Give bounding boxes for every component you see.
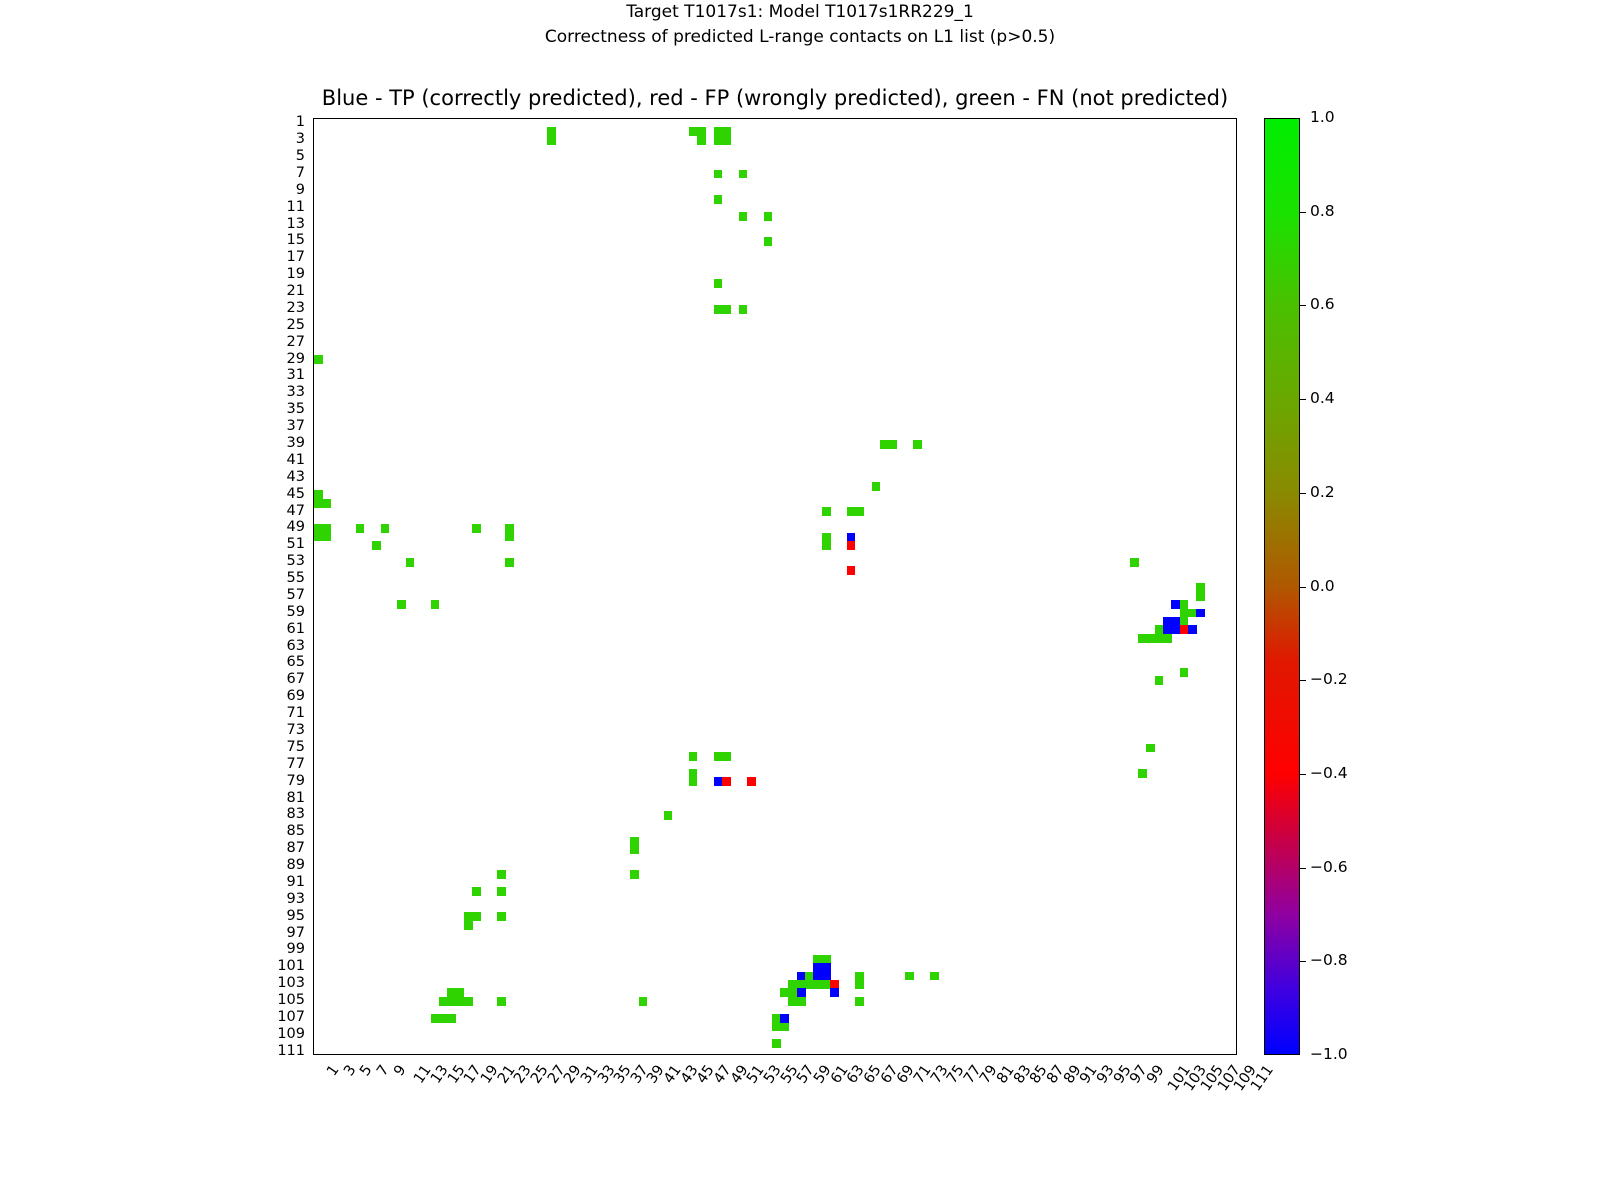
contact-cell bbox=[714, 279, 723, 288]
x-axis-tick bbox=[984, 1054, 985, 1055]
y-axis-tick-label: 41 bbox=[287, 453, 305, 468]
y-axis-tick-label: 111 bbox=[277, 1044, 305, 1059]
x-axis-tick bbox=[476, 1054, 477, 1055]
x-axis-tick bbox=[1117, 1054, 1118, 1055]
x-axis-tick bbox=[901, 1054, 902, 1055]
x-axis-tick bbox=[1184, 1054, 1185, 1055]
contact-cell bbox=[813, 963, 830, 980]
y-axis-tick bbox=[313, 427, 314, 428]
y-axis-tick-label: 1 bbox=[296, 115, 305, 130]
x-axis-tick bbox=[1226, 1054, 1227, 1055]
y-axis-tick-label: 101 bbox=[277, 959, 305, 974]
y-axis-tick-label: 89 bbox=[287, 858, 305, 873]
contact-cell bbox=[764, 212, 773, 221]
x-axis-tick bbox=[1042, 1054, 1043, 1055]
y-axis-tick bbox=[313, 478, 314, 479]
contact-cell-layer bbox=[314, 119, 1236, 1054]
y-axis-tick bbox=[313, 621, 314, 622]
y-axis-tick bbox=[313, 891, 314, 892]
x-axis-tick bbox=[493, 1054, 494, 1055]
x-axis-tick bbox=[768, 1054, 769, 1055]
contact-cell bbox=[822, 533, 831, 550]
contact-cell bbox=[930, 972, 939, 981]
x-axis-tick bbox=[1067, 1054, 1068, 1055]
contact-cell bbox=[1130, 558, 1139, 567]
y-axis-tick bbox=[313, 832, 314, 833]
colorbar-tick-label: −0.4 bbox=[1310, 766, 1348, 782]
y-axis-tick bbox=[313, 149, 314, 150]
y-axis-tick bbox=[313, 199, 314, 200]
y-axis-tick bbox=[313, 275, 314, 276]
y-axis-tick bbox=[313, 1052, 314, 1053]
contact-cell bbox=[822, 507, 831, 516]
y-axis-tick bbox=[313, 157, 314, 158]
y-axis-tick bbox=[313, 697, 314, 698]
contact-cell bbox=[439, 997, 473, 1006]
y-axis-tick bbox=[313, 436, 314, 437]
colorbar-tick-label: 0.6 bbox=[1310, 297, 1335, 313]
y-axis-tick bbox=[313, 604, 314, 605]
contact-cell bbox=[872, 482, 881, 491]
y-axis-tick-label: 37 bbox=[287, 419, 305, 434]
x-axis-tick bbox=[651, 1054, 652, 1055]
y-axis-tick-label: 5 bbox=[296, 149, 305, 164]
y-axis-tick bbox=[313, 790, 314, 791]
x-axis-tick bbox=[1176, 1054, 1177, 1055]
x-axis-tick bbox=[368, 1054, 369, 1055]
x-axis-tick bbox=[1217, 1054, 1218, 1055]
x-axis-tick bbox=[868, 1054, 869, 1055]
x-axis-tick bbox=[951, 1054, 952, 1055]
contact-cell bbox=[1180, 668, 1189, 677]
y-axis-tick bbox=[313, 613, 314, 614]
y-axis-tick bbox=[313, 132, 314, 133]
contact-cell bbox=[431, 600, 440, 609]
contact-cell bbox=[714, 305, 731, 314]
contact-cell bbox=[497, 887, 506, 896]
contact-cell bbox=[406, 558, 415, 567]
contact-cell bbox=[381, 524, 390, 533]
y-axis-tick bbox=[313, 537, 314, 538]
contact-cell bbox=[472, 887, 481, 896]
colorbar-tick bbox=[1300, 868, 1306, 869]
y-axis-tick bbox=[313, 140, 314, 141]
y-axis-tick-label: 43 bbox=[287, 470, 305, 485]
y-axis-tick bbox=[313, 267, 314, 268]
y-axis-tick bbox=[313, 908, 314, 909]
y-axis-tick bbox=[313, 875, 314, 876]
contact-cell bbox=[830, 988, 839, 997]
y-axis-tick bbox=[313, 976, 314, 977]
y-axis-tick bbox=[313, 993, 314, 994]
x-axis-tick bbox=[743, 1054, 744, 1055]
x-axis-tick bbox=[1034, 1054, 1035, 1055]
x-axis-tick bbox=[826, 1054, 827, 1055]
y-axis-tick bbox=[313, 883, 314, 884]
y-axis-tick bbox=[313, 385, 314, 386]
y-axis-tick bbox=[313, 858, 314, 859]
y-axis-tick bbox=[313, 967, 314, 968]
contact-cell bbox=[797, 988, 806, 997]
y-axis-tick-label: 39 bbox=[287, 436, 305, 451]
contact-cell bbox=[847, 507, 864, 516]
y-axis-tick-label: 51 bbox=[287, 537, 305, 552]
y-axis-tick-label: 35 bbox=[287, 402, 305, 417]
y-axis-tick bbox=[313, 630, 314, 631]
x-axis-tick bbox=[360, 1054, 361, 1055]
x-axis-tick bbox=[701, 1054, 702, 1055]
contact-cell bbox=[497, 912, 506, 921]
figure-suptitle: Target T1017s1: Model T1017s1RR229_1 Cor… bbox=[0, 0, 1600, 50]
suptitle-line-2: Correctness of predicted L-range contact… bbox=[0, 25, 1600, 50]
y-axis-tick-label: 49 bbox=[287, 520, 305, 535]
y-axis-tick-label: 97 bbox=[287, 926, 305, 941]
contact-cell bbox=[772, 1039, 781, 1048]
x-axis-tick bbox=[1151, 1054, 1152, 1055]
contact-cell bbox=[397, 600, 406, 609]
colorbar-tick-label: 1.0 bbox=[1310, 110, 1335, 126]
contact-cell bbox=[880, 440, 897, 449]
y-axis-tick bbox=[313, 1035, 314, 1036]
y-axis-tick bbox=[313, 165, 314, 166]
y-axis-tick-label: 57 bbox=[287, 588, 305, 603]
colorbar-tick-label: 0.4 bbox=[1310, 391, 1335, 407]
contact-cell bbox=[739, 305, 748, 314]
colorbar-tick-label: 0.0 bbox=[1310, 579, 1335, 595]
y-axis-tick-label: 47 bbox=[287, 504, 305, 519]
y-axis-tick bbox=[313, 900, 314, 901]
x-axis-tick bbox=[834, 1054, 835, 1055]
contact-cell bbox=[714, 170, 723, 179]
x-axis-tick bbox=[576, 1054, 577, 1055]
contact-cell bbox=[464, 921, 473, 930]
contact-cell bbox=[431, 1014, 456, 1023]
y-axis-tick-label: 55 bbox=[287, 571, 305, 586]
y-axis-tick bbox=[313, 942, 314, 943]
x-axis-tick bbox=[535, 1054, 536, 1055]
x-axis-tick bbox=[918, 1054, 919, 1055]
y-axis-tick-label: 27 bbox=[287, 335, 305, 350]
x-axis-tick bbox=[1159, 1054, 1160, 1055]
colorbar-tick-label: 0.2 bbox=[1310, 485, 1335, 501]
x-axis-tick bbox=[1167, 1054, 1168, 1055]
contact-cell bbox=[547, 127, 556, 144]
contact-cell bbox=[505, 524, 514, 541]
y-axis-tick bbox=[313, 444, 314, 445]
x-axis-tick bbox=[426, 1054, 427, 1055]
contact-cell bbox=[639, 997, 648, 1006]
y-axis-tick bbox=[313, 284, 314, 285]
contact-cell bbox=[664, 811, 673, 820]
y-axis-tick bbox=[313, 461, 314, 462]
x-axis-tick bbox=[734, 1054, 735, 1055]
contact-cell bbox=[722, 777, 731, 786]
y-axis-tick bbox=[313, 950, 314, 951]
figure-canvas: Target T1017s1: Model T1017s1RR229_1 Cor… bbox=[0, 0, 1600, 1200]
y-axis-tick bbox=[313, 292, 314, 293]
y-axis-tick bbox=[313, 925, 314, 926]
contact-cell bbox=[1155, 676, 1164, 685]
y-axis-tick-label: 59 bbox=[287, 605, 305, 620]
x-axis-tick bbox=[643, 1054, 644, 1055]
y-axis-tick-label: 107 bbox=[277, 1010, 305, 1025]
suptitle-line-1: Target T1017s1: Model T1017s1RR229_1 bbox=[0, 0, 1600, 25]
y-axis-tick bbox=[313, 917, 314, 918]
contact-cell bbox=[913, 440, 922, 449]
axes-title: Blue - TP (correctly predicted), red - F… bbox=[313, 86, 1237, 110]
x-axis-tick bbox=[1017, 1054, 1018, 1055]
x-axis-tick bbox=[959, 1054, 960, 1055]
x-axis-tick bbox=[1059, 1054, 1060, 1055]
y-axis-tick bbox=[313, 317, 314, 318]
y-axis-tick-label: 3 bbox=[296, 132, 305, 147]
contact-cell bbox=[1163, 617, 1180, 634]
y-axis-tick bbox=[313, 520, 314, 521]
y-axis-tick bbox=[313, 799, 314, 800]
x-axis-tick bbox=[1026, 1054, 1027, 1055]
contact-cell bbox=[1188, 625, 1197, 634]
x-axis-tick bbox=[585, 1054, 586, 1055]
x-axis-tick bbox=[1101, 1054, 1102, 1055]
y-axis-tick bbox=[313, 1018, 314, 1019]
y-axis-tick bbox=[313, 410, 314, 411]
x-axis-tick bbox=[967, 1054, 968, 1055]
contact-cell bbox=[739, 170, 748, 179]
x-axis-tick bbox=[1126, 1054, 1127, 1055]
contact-cell bbox=[847, 566, 856, 575]
x-axis-tick bbox=[610, 1054, 611, 1055]
y-axis-tick bbox=[313, 782, 314, 783]
colorbar-tick bbox=[1300, 774, 1306, 775]
x-axis-tick bbox=[992, 1054, 993, 1055]
x-axis-tick bbox=[343, 1054, 344, 1055]
y-axis-tick-label: 75 bbox=[287, 740, 305, 755]
y-axis-tick bbox=[313, 849, 314, 850]
y-axis-tick bbox=[313, 1026, 314, 1027]
y-axis-tick bbox=[313, 300, 314, 301]
x-axis-tick bbox=[876, 1054, 877, 1055]
y-axis-tick bbox=[313, 452, 314, 453]
x-axis-tick bbox=[443, 1054, 444, 1055]
x-axis-tick bbox=[318, 1054, 319, 1055]
x-axis-tick bbox=[1209, 1054, 1210, 1055]
contact-cell bbox=[747, 777, 756, 786]
x-axis-tick bbox=[909, 1054, 910, 1055]
y-axis-tick bbox=[313, 393, 314, 394]
y-axis-tick bbox=[313, 512, 314, 513]
x-axis-tick bbox=[693, 1054, 694, 1055]
x-axis-tick bbox=[626, 1054, 627, 1055]
x-axis-tick bbox=[684, 1054, 685, 1055]
y-axis-tick bbox=[313, 368, 314, 369]
x-axis-tick bbox=[709, 1054, 710, 1055]
x-axis-tick bbox=[510, 1054, 511, 1055]
x-axis-tick bbox=[843, 1054, 844, 1055]
y-axis-tick-label: 93 bbox=[287, 892, 305, 907]
x-axis-tick-label: 9 bbox=[392, 1063, 409, 1079]
y-axis-tick bbox=[313, 562, 314, 563]
x-axis-tick bbox=[859, 1054, 860, 1055]
contact-cell bbox=[497, 997, 506, 1006]
x-axis-tick bbox=[468, 1054, 469, 1055]
y-axis-tick bbox=[313, 554, 314, 555]
y-axis-tick-label: 31 bbox=[287, 368, 305, 383]
y-axis-tick-label: 61 bbox=[287, 622, 305, 637]
x-axis-tick bbox=[809, 1054, 810, 1055]
y-axis-tick-label: 103 bbox=[277, 976, 305, 991]
y-axis-tick bbox=[313, 655, 314, 656]
y-axis-tick bbox=[313, 402, 314, 403]
y-axis-tick bbox=[313, 233, 314, 234]
y-axis-tick bbox=[313, 731, 314, 732]
y-axis-tick bbox=[313, 545, 314, 546]
contact-cell bbox=[1138, 634, 1172, 643]
x-axis-tick bbox=[326, 1054, 327, 1055]
x-axis-tick bbox=[593, 1054, 594, 1055]
x-axis-tick bbox=[1142, 1054, 1143, 1055]
contact-cell bbox=[497, 870, 506, 879]
y-axis-tick-label: 15 bbox=[287, 233, 305, 248]
contact-cell bbox=[689, 769, 698, 786]
y-axis-tick bbox=[313, 680, 314, 681]
x-axis-tick bbox=[668, 1054, 669, 1055]
y-axis-tick-label: 33 bbox=[287, 385, 305, 400]
y-axis-tick bbox=[313, 866, 314, 867]
x-axis-tick bbox=[618, 1054, 619, 1055]
y-axis-tick bbox=[313, 174, 314, 175]
contact-map-plot[interactable] bbox=[313, 118, 1237, 1055]
y-axis-tick bbox=[313, 360, 314, 361]
y-axis-tick-label: 77 bbox=[287, 757, 305, 772]
y-axis-tick-label: 73 bbox=[287, 723, 305, 738]
x-axis-tick bbox=[759, 1054, 760, 1055]
x-axis-tick bbox=[793, 1054, 794, 1055]
contact-cell bbox=[780, 1014, 789, 1023]
y-axis-tick bbox=[313, 824, 314, 825]
y-axis-tick-label: 65 bbox=[287, 655, 305, 670]
x-axis-tick bbox=[1009, 1054, 1010, 1055]
y-axis-tick-label: 19 bbox=[287, 267, 305, 282]
contact-cell bbox=[356, 524, 365, 533]
y-axis-tick bbox=[313, 984, 314, 985]
x-axis-tick bbox=[526, 1054, 527, 1055]
x-axis-tick bbox=[601, 1054, 602, 1055]
x-axis-tick bbox=[568, 1054, 569, 1055]
contact-cell bbox=[714, 195, 723, 204]
y-axis-tick bbox=[313, 706, 314, 707]
y-axis-tick bbox=[313, 596, 314, 597]
x-axis-tick bbox=[1001, 1054, 1002, 1055]
y-axis-tick-label: 7 bbox=[296, 166, 305, 181]
contact-cell bbox=[1146, 744, 1155, 753]
contact-cell bbox=[855, 972, 864, 989]
y-axis-tick bbox=[313, 351, 314, 352]
x-axis-tick bbox=[401, 1054, 402, 1055]
y-axis-tick bbox=[313, 663, 314, 664]
y-axis-tick bbox=[313, 486, 314, 487]
y-axis-tick bbox=[313, 689, 314, 690]
x-axis-tick bbox=[801, 1054, 802, 1055]
y-axis-tick bbox=[313, 714, 314, 715]
x-axis-tick bbox=[460, 1054, 461, 1055]
y-axis-tick bbox=[313, 672, 314, 673]
y-axis-tick-label: 69 bbox=[287, 689, 305, 704]
contact-cell bbox=[472, 524, 481, 533]
contact-cell bbox=[630, 870, 639, 879]
y-axis-tick bbox=[313, 1010, 314, 1011]
x-axis-tick bbox=[410, 1054, 411, 1055]
y-axis-tick bbox=[313, 723, 314, 724]
colorbar-tick-label: 0.8 bbox=[1310, 204, 1335, 220]
colorbar-tick bbox=[1300, 587, 1306, 588]
contact-cell bbox=[905, 972, 914, 981]
x-axis-tick bbox=[376, 1054, 377, 1055]
contact-cell bbox=[630, 837, 639, 854]
x-axis-tick bbox=[543, 1054, 544, 1055]
x-axis-tick bbox=[1201, 1054, 1202, 1055]
y-axis-tick-label: 9 bbox=[296, 183, 305, 198]
y-axis-tick-label: 67 bbox=[287, 672, 305, 687]
colorbar-tick bbox=[1300, 493, 1306, 494]
colorbar-gradient bbox=[1264, 118, 1300, 1055]
contact-cell bbox=[1196, 609, 1205, 618]
y-axis-tick bbox=[313, 571, 314, 572]
x-axis-tick bbox=[659, 1054, 660, 1055]
x-axis-tick bbox=[1084, 1054, 1085, 1055]
y-axis-tick-label: 29 bbox=[287, 352, 305, 367]
contact-cell bbox=[314, 524, 331, 541]
y-axis-tick-label: 85 bbox=[287, 824, 305, 839]
contact-cell bbox=[697, 136, 706, 145]
x-axis-tick bbox=[393, 1054, 394, 1055]
contact-cell bbox=[847, 541, 856, 550]
y-axis-tick bbox=[313, 807, 314, 808]
x-axis-tick bbox=[926, 1054, 927, 1055]
y-axis-tick bbox=[313, 250, 314, 251]
y-axis-tick bbox=[313, 123, 314, 124]
y-axis-tick-label: 23 bbox=[287, 301, 305, 316]
y-axis-tick-label: 105 bbox=[277, 993, 305, 1008]
y-axis-tick-label: 87 bbox=[287, 841, 305, 856]
colorbar-tick bbox=[1300, 305, 1306, 306]
x-axis-tick bbox=[976, 1054, 977, 1055]
y-axis-tick bbox=[313, 748, 314, 749]
x-axis-tick bbox=[1192, 1054, 1193, 1055]
y-axis-tick-label: 63 bbox=[287, 639, 305, 654]
y-axis-tick-label: 53 bbox=[287, 554, 305, 569]
x-axis-tick bbox=[676, 1054, 677, 1055]
colorbar-tick bbox=[1300, 961, 1306, 962]
y-axis-tick bbox=[313, 241, 314, 242]
colorbar-tick-label: −0.6 bbox=[1310, 860, 1348, 876]
x-axis-tick bbox=[818, 1054, 819, 1055]
x-axis-tick bbox=[518, 1054, 519, 1055]
y-axis-tick bbox=[313, 191, 314, 192]
contact-cell bbox=[714, 127, 731, 144]
x-axis-tick bbox=[718, 1054, 719, 1055]
y-axis-tick-label: 79 bbox=[287, 774, 305, 789]
colorbar-tick-label: −0.8 bbox=[1310, 953, 1348, 969]
contact-cell bbox=[739, 212, 748, 221]
x-axis-tick bbox=[784, 1054, 785, 1055]
x-axis-tick bbox=[335, 1054, 336, 1055]
x-axis-tick bbox=[726, 1054, 727, 1055]
y-axis-tick bbox=[313, 208, 314, 209]
y-axis-tick bbox=[313, 334, 314, 335]
x-axis-tick bbox=[776, 1054, 777, 1055]
y-axis-tick-label: 91 bbox=[287, 875, 305, 890]
x-axis-tick bbox=[1134, 1054, 1135, 1055]
